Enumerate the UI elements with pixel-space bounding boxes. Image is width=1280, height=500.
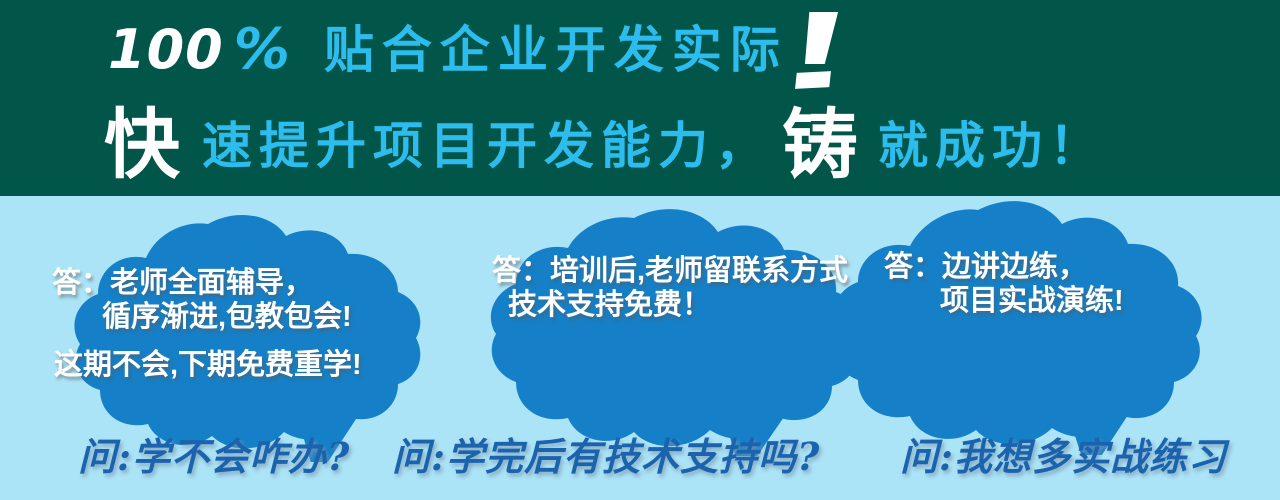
answer-bubble-3-text: 答：边讲边练， 项目实战演练! <box>884 250 1124 318</box>
bubble-1-line-2: 循序渐进,包教包会! <box>52 300 362 334</box>
headline-2-part-2: 就成功！ <box>878 121 1106 171</box>
answer-bubble-2: 答：培训后,老师留联系方式 技术支持免费！ <box>470 206 870 456</box>
bubble-1-line-1: 答：老师全面辅导， <box>52 266 362 300</box>
bubble-3-line-1: 答：边讲边练， <box>884 250 1124 284</box>
hundred-number: 100 <box>108 23 224 77</box>
headline-1-text: 贴合企业开发实际 <box>324 25 788 75</box>
headline-banner: 100 % 贴合企业开发实际 快 速提升项目开发能力， 铸 就成功！ <box>0 0 1280 196</box>
headline-2-emphasis-2: 铸 <box>782 108 858 184</box>
headline-line-2: 快 速提升项目开发能力， 铸 就成功！ <box>0 100 1280 192</box>
answers-panel: 答：老师全面辅导， 循序渐进,包教包会! 这期不会,下期免费重学! 答：培训后,… <box>0 196 1280 500</box>
exclamation-mark-icon <box>796 12 842 90</box>
answer-bubble-1-text: 答：老师全面辅导， 循序渐进,包教包会! 这期不会,下期免费重学! <box>52 266 362 383</box>
headline-2-emphasis-1: 快 <box>104 108 180 184</box>
bubble-3-line-2: 项目实战演练! <box>884 284 1124 318</box>
question-2: 问:学完后有技术支持吗? <box>392 424 820 490</box>
headline-line-1: 100 % 贴合企业开发实际 <box>0 10 1280 90</box>
bubble-2-line-1: 答：培训后,老师留联系方式 <box>492 254 848 288</box>
bubble-2-line-2: 技术支持免费！ <box>492 288 848 322</box>
question-1: 问:学不会咋办? <box>78 424 350 490</box>
questions-row: 问:学不会咋办? 问:学完后有技术支持吗? 问:我想多实战练习 <box>0 424 1280 496</box>
question-3: 问:我想多实战练习 <box>900 424 1227 490</box>
promo-banner-stage: 100 % 贴合企业开发实际 快 速提升项目开发能力， 铸 就成功！ <box>0 0 1280 500</box>
headline-2-part-1: 速提升项目开发能力， <box>202 121 772 171</box>
cloud-shape-icon <box>822 200 1202 455</box>
exclamation-stem <box>798 12 838 64</box>
bubble-1-line-3: 这期不会,下期免费重学! <box>52 348 362 382</box>
answer-bubble-2-text: 答：培训后,老师留联系方式 技术支持免费！ <box>492 254 848 322</box>
percent-symbol: % <box>234 22 290 78</box>
answer-bubble-3: 答：边讲边练， 项目实战演练! <box>822 200 1202 455</box>
cloud-shape-icon <box>470 206 870 456</box>
exclamation-dot <box>795 71 831 89</box>
